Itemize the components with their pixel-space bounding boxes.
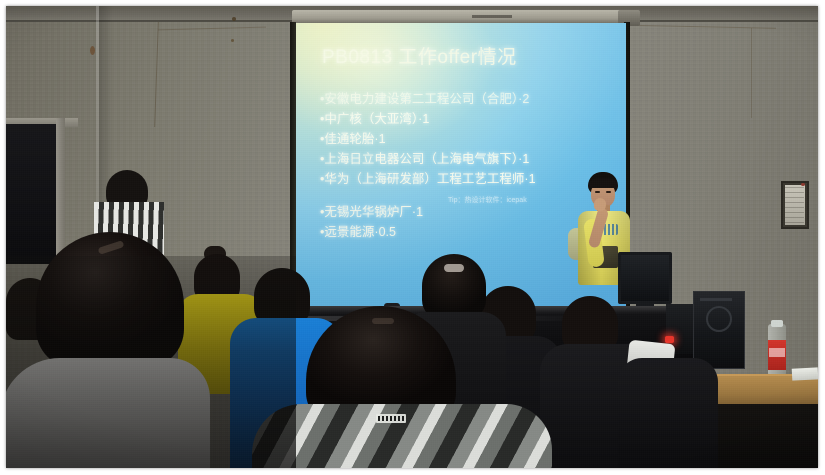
bullet-count: 2 bbox=[522, 92, 529, 106]
pc-drive-slot bbox=[700, 298, 732, 301]
slide-title: PB0813 工作offer情况 bbox=[322, 42, 517, 69]
bullet-text: 无锡光华锅炉厂 bbox=[324, 205, 412, 219]
presenter-eye-right bbox=[606, 191, 611, 193]
slide-bullet-item: •安徽电力建设第二工程公司（合肥）·2 bbox=[320, 91, 620, 109]
classroom-photo: PB0813 工作offer情况 •安徽电力建设第二工程公司（合肥）·2 •中广… bbox=[6, 6, 818, 468]
slide-bullet-item: •佳通轮胎·1 bbox=[320, 131, 620, 149]
desk-papers bbox=[792, 367, 818, 380]
dark-foreground-right bbox=[706, 404, 818, 468]
pc-fan-vent-icon bbox=[706, 306, 732, 332]
wall-notice-text-lines bbox=[785, 187, 804, 223]
water-bottle-label-band bbox=[769, 348, 785, 357]
wall-stain bbox=[90, 46, 95, 55]
bullet-count: 1 bbox=[522, 152, 529, 166]
slide-tip-text: Tip：热设计软件：icepak bbox=[448, 195, 527, 205]
presenter-fringe bbox=[589, 178, 617, 188]
audience-body-dark-c bbox=[618, 358, 718, 468]
foreground-shadow-left bbox=[6, 256, 296, 468]
wall-stain bbox=[231, 39, 234, 42]
wall-notice-seal bbox=[801, 183, 805, 186]
wooden-desk bbox=[706, 376, 818, 406]
bullet-count: 1 bbox=[529, 172, 536, 186]
bullet-text: 佳通轮胎 bbox=[324, 132, 374, 146]
bullet-count: 1 bbox=[416, 205, 423, 219]
wall-crack-icon bbox=[751, 28, 752, 118]
bullet-text: 安徽电力建设第二工程公司（合肥） bbox=[324, 92, 518, 106]
audience-hair-part bbox=[372, 318, 394, 324]
monitor bbox=[618, 252, 672, 304]
slide-bullet-item: •上海日立电器公司（上海电气旗下）·1 bbox=[320, 151, 620, 169]
projector-screen-housing-label bbox=[472, 15, 512, 18]
audience-hair-tie bbox=[444, 264, 464, 272]
bullet-text: 远景能源 bbox=[324, 225, 374, 239]
photo-frame: PB0813 工作offer情况 •安徽电力建设第二工程公司（合肥）·2 •中广… bbox=[0, 0, 825, 475]
slide-bullet-item: •中广核（大亚湾）·1 bbox=[320, 111, 620, 129]
power-led-indicator bbox=[665, 336, 674, 343]
water-bottle-cap bbox=[771, 320, 783, 327]
door-frame-side bbox=[56, 118, 65, 266]
wall-stain bbox=[232, 17, 236, 21]
bullet-text: 中广核（大亚湾） bbox=[324, 112, 418, 126]
presenter-eye-left bbox=[595, 191, 600, 193]
bullet-text: 华为（上海研发部）工程工艺工程师 bbox=[324, 172, 524, 186]
doorway bbox=[6, 124, 58, 264]
bullet-text: 上海日立电器公司（上海电气旗下） bbox=[324, 152, 518, 166]
bullet-count: 0.5 bbox=[379, 225, 396, 239]
projector-screen-housing bbox=[292, 10, 634, 24]
bullet-count: 1 bbox=[422, 112, 429, 126]
bullet-count: 1 bbox=[379, 132, 386, 146]
shirt-logo-text bbox=[378, 416, 404, 421]
